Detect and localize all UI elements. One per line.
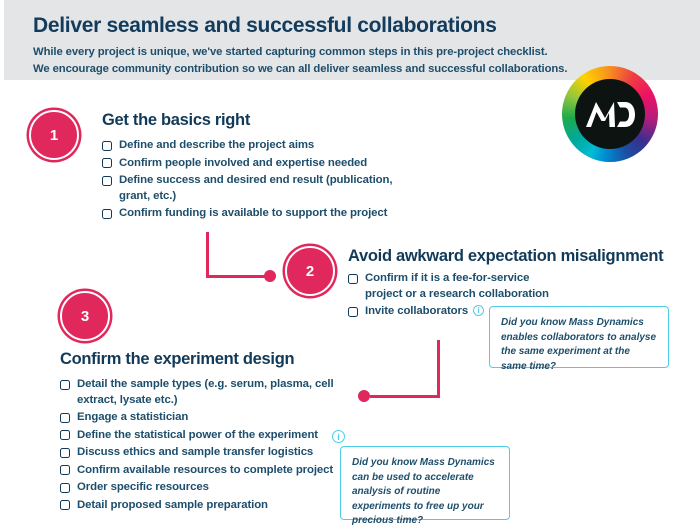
checkbox-icon[interactable] [60,448,70,458]
info-icon[interactable]: i [473,305,484,316]
list-item-label: Engage a statistician [77,410,188,426]
page-subtitle-line-2: We encourage community contribution so w… [33,61,593,78]
list-item-label: Confirm funding is available to support … [119,206,387,222]
step-badge-2: 2 [285,246,335,296]
md-letters-icon [584,99,636,129]
list-item[interactable]: Confirm if it is a fee-for-service proje… [348,271,558,302]
connector-step2-vertical [206,232,209,278]
page-title: Deliver seamless and successful collabor… [33,14,497,38]
connector-step2-horizontal [206,275,272,278]
checkbox-icon[interactable] [348,307,358,317]
checkbox-icon[interactable] [348,274,358,284]
list-item[interactable]: Discuss ethics and sample transfer logis… [60,445,370,461]
list-item-label: Confirm if it is a fee-for-service proje… [365,271,558,302]
checkbox-icon[interactable] [60,465,70,475]
list-item[interactable]: Define the statistical power of the expe… [60,428,370,444]
connector-step3-horizontal [370,395,440,398]
list-item[interactable]: Define and describe the project aims [102,138,402,154]
step-badge-2-number: 2 [287,248,333,294]
list-item-label: Order specific resources [77,480,209,496]
list-item[interactable]: Define success and desired end result (p… [102,173,402,204]
logo-core-circle [575,79,645,149]
list-item-label: Define success and desired end result (p… [119,173,402,204]
connector-step3-vertical [437,340,440,398]
checkbox-icon[interactable] [60,430,70,440]
section-1-checklist: Define and describe the project aims Con… [102,138,402,224]
list-item[interactable]: Confirm people involved and expertise ne… [102,156,402,172]
list-item-label: Discuss ethics and sample transfer logis… [77,445,313,461]
mass-dynamics-logo [562,66,658,162]
section-3-title: Confirm the experiment design [60,350,294,369]
list-item[interactable]: Detail the sample types (e.g. serum, pla… [60,377,370,408]
step-badge-1-number: 1 [31,112,77,158]
checkbox-icon[interactable] [60,380,70,390]
checkbox-icon[interactable] [60,500,70,510]
list-item-label: Invite collaborators [365,304,468,320]
checkbox-icon[interactable] [102,158,112,168]
page-subtitle-line-1: While every project is unique, we've sta… [33,44,593,61]
page-subtitle: While every project is unique, we've sta… [33,44,593,77]
logo-md-mark [575,79,645,149]
checkbox-icon[interactable] [102,176,112,186]
checkbox-icon[interactable] [60,413,70,423]
connector-step2-dot [264,270,276,282]
section-1-title: Get the basics right [102,111,250,130]
list-item[interactable]: Confirm available resources to complete … [60,463,370,479]
tooltip-collaborators: Did you know Mass Dynamics enables colla… [489,306,669,368]
step-badge-1: 1 [29,110,79,160]
step-badge-3-number: 3 [62,293,108,339]
list-item-label: Detail proposed sample preparation [77,498,268,514]
list-item-label: Define and describe the project aims [119,138,314,154]
section-3-checklist: Detail the sample types (e.g. serum, pla… [60,377,370,515]
section-2-title: Avoid awkward expectation misalignment [348,247,663,266]
list-item-label: Confirm people involved and expertise ne… [119,156,367,172]
info-icon[interactable]: i [332,430,345,443]
list-item-label: Confirm available resources to complete … [77,463,333,479]
tooltip-routine-experiments: Did you know Mass Dynamics can be used t… [340,446,510,520]
list-item-label: Define the statistical power of the expe… [77,428,318,444]
list-item[interactable]: Confirm funding is available to support … [102,206,402,222]
checklist-page: Deliver seamless and successful collabor… [0,0,700,520]
list-item-label: Detail the sample types (e.g. serum, pla… [77,377,370,408]
step-badge-3: 3 [60,291,110,341]
checkbox-icon[interactable] [102,209,112,219]
list-item[interactable]: Detail proposed sample preparation [60,498,370,514]
checkbox-icon[interactable] [102,141,112,151]
list-item[interactable]: Engage a statistician [60,410,370,426]
checkbox-icon[interactable] [60,483,70,493]
list-item[interactable]: Order specific resources [60,480,370,496]
